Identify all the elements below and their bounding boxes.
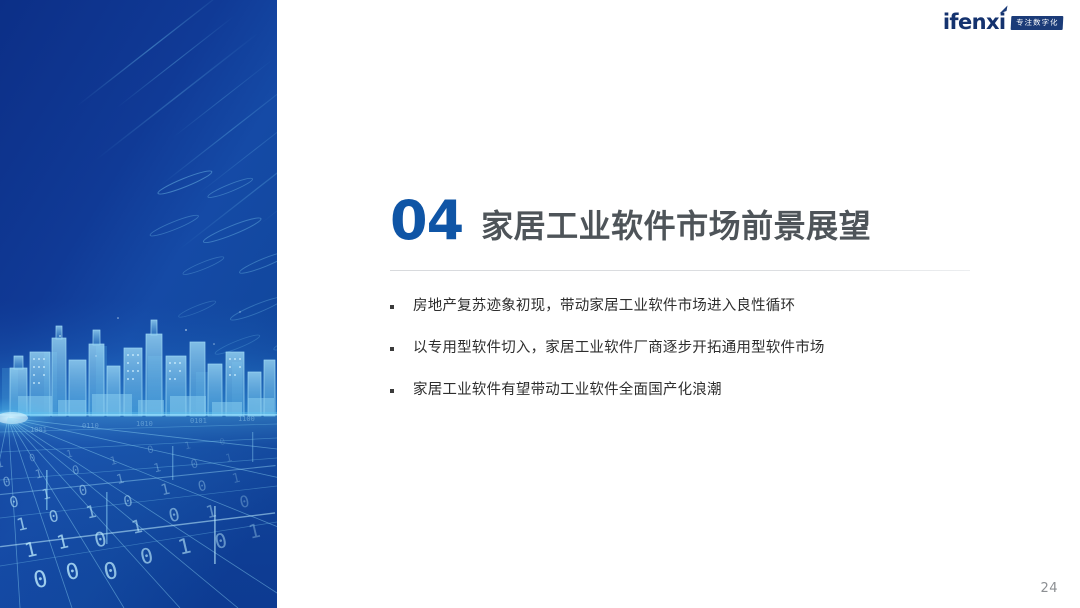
svg-text:1001: 1001 bbox=[30, 426, 47, 434]
svg-text:1010: 1010 bbox=[136, 420, 153, 428]
svg-text:0101: 0101 bbox=[190, 417, 207, 425]
left-decoration-panel: 1 0 0 1 1 0 0 1 1 0 1 0 bbox=[0, 0, 277, 608]
digital-city-binary-artwork-icon: 1 0 0 1 1 0 0 1 1 0 1 0 bbox=[0, 0, 277, 608]
slide-root: 1 0 0 1 1 0 0 1 1 0 1 0 bbox=[0, 0, 1080, 608]
title-divider bbox=[390, 270, 970, 271]
section-number: 04 bbox=[390, 196, 463, 246]
section-title-row: 04 家居工业软件市场前景展望 bbox=[390, 196, 871, 246]
brand-logo-tagline-badge: 专注数字化 bbox=[1010, 16, 1062, 30]
main-content: 04 家居工业软件市场前景展望 房地产复苏迹象初现，带动家居工业软件市场进入良性… bbox=[390, 0, 990, 608]
page-number: 24 bbox=[1040, 581, 1058, 596]
bullet-text: 房地产复苏迹象初现，带动家居工业软件市场进入良性循环 bbox=[413, 296, 795, 317]
bullet-dot-icon bbox=[390, 347, 394, 351]
svg-text:1100: 1100 bbox=[238, 415, 255, 423]
bullet-text: 家居工业软件有望带动工业软件全面国产化浪潮 bbox=[413, 380, 722, 401]
page-title: 家居工业软件市场前景展望 bbox=[481, 210, 871, 246]
list-item: 家居工业软件有望带动工业软件全面国产化浪潮 bbox=[390, 380, 980, 401]
bullet-dot-icon bbox=[390, 305, 394, 309]
bullet-dot-icon bbox=[390, 389, 394, 393]
list-item: 以专用型软件切入，家居工业软件厂商逐步开拓通用型软件市场 bbox=[390, 338, 980, 359]
logo-tick-icon bbox=[999, 5, 1009, 15]
svg-text:0110: 0110 bbox=[82, 422, 99, 430]
list-item: 房地产复苏迹象初现，带动家居工业软件市场进入良性循环 bbox=[390, 296, 980, 317]
bullet-list: 房地产复苏迹象初现，带动家居工业软件市场进入良性循环 以专用型软件切入，家居工业… bbox=[390, 296, 980, 401]
bullet-text: 以专用型软件切入，家居工业软件厂商逐步开拓通用型软件市场 bbox=[413, 338, 825, 359]
